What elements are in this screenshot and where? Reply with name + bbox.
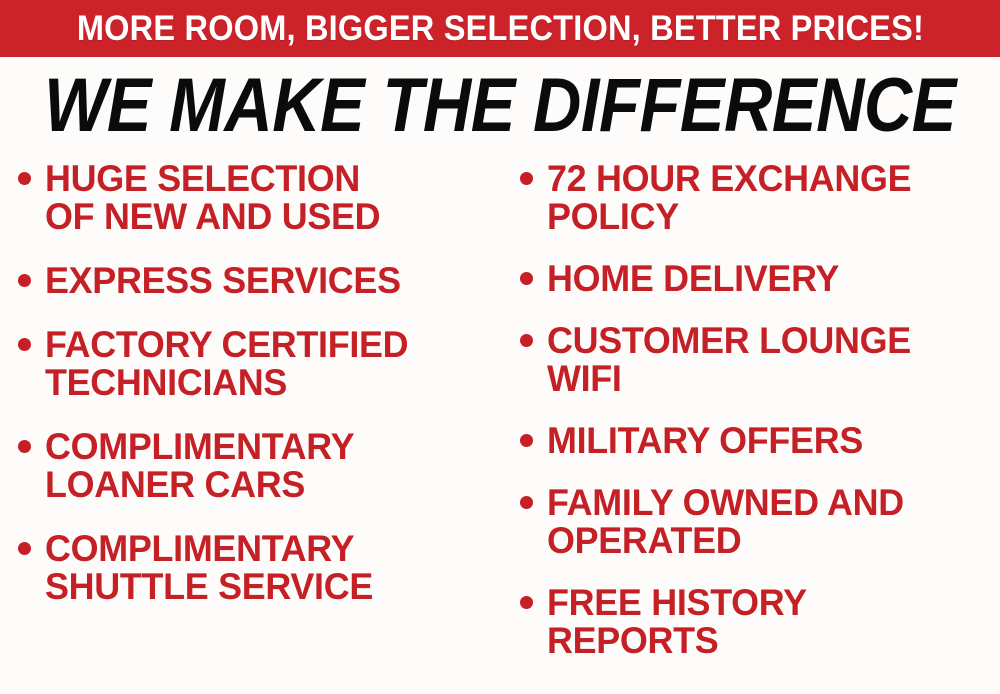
list-item: CUSTOMER LOUNGE WIFI (520, 322, 994, 398)
list-item-text: MILITARY OFFERS (547, 422, 863, 460)
bullet-dot-icon (520, 334, 533, 347)
list-item-text: FACTORY CERTIFIED TECHNICIANS (45, 326, 408, 402)
list-item-line1: HOME DELIVERY (547, 258, 839, 299)
list-item-text: HOME DELIVERY (547, 260, 839, 298)
list-item: COMPLIMENTARY LOANER CARS (18, 428, 494, 504)
headline-container: WE MAKE THE DIFFERENCE (0, 57, 1000, 155)
list-item-line2: OF NEW AND USED (45, 198, 380, 236)
benefits-columns: HUGE SELECTION OF NEW AND USED EXPRESS S… (0, 160, 1000, 694)
list-item-text: FAMILY OWNED AND OPERATED (547, 484, 904, 560)
bullet-dot-icon (520, 172, 533, 185)
list-item-line2: TECHNICIANS (45, 364, 408, 402)
bullet-dot-icon (520, 272, 533, 285)
bullet-dot-icon (18, 172, 31, 185)
list-item-line2: POLICY (547, 198, 911, 236)
bullet-dot-icon (520, 596, 533, 609)
list-item-line1: FREE HISTORY (547, 582, 807, 623)
bullet-dot-icon (18, 274, 31, 287)
list-item-text: CUSTOMER LOUNGE WIFI (547, 322, 911, 398)
list-item: FACTORY CERTIFIED TECHNICIANS (18, 326, 494, 402)
list-item-line1: COMPLIMENTARY (45, 528, 354, 569)
benefits-column-left: HUGE SELECTION OF NEW AND USED EXPRESS S… (0, 160, 500, 632)
list-item-text: FREE HISTORY REPORTS (547, 584, 807, 660)
list-item-text: 72 HOUR EXCHANGE POLICY (547, 160, 911, 236)
list-item: 72 HOUR EXCHANGE POLICY (520, 160, 994, 236)
list-item-line2: LOANER CARS (45, 466, 354, 504)
list-item-line1: FACTORY CERTIFIED (45, 324, 408, 365)
list-item: HOME DELIVERY (520, 260, 994, 298)
list-item-line2: WIFI (547, 360, 911, 398)
list-item-line1: FAMILY OWNED AND (547, 482, 904, 523)
bullet-dot-icon (18, 542, 31, 555)
list-item-line2: SHUTTLE SERVICE (45, 568, 373, 606)
list-item-line2: REPORTS (547, 622, 807, 660)
bullet-dot-icon (520, 496, 533, 509)
list-item-line2: OPERATED (547, 522, 904, 560)
list-item: FAMILY OWNED AND OPERATED (520, 484, 994, 560)
list-item: EXPRESS SERVICES (18, 262, 494, 300)
list-item-text: HUGE SELECTION OF NEW AND USED (45, 160, 380, 236)
page-title: WE MAKE THE DIFFERENCE (44, 68, 956, 144)
list-item-line1: EXPRESS SERVICES (45, 260, 401, 301)
promo-banner-text: MORE ROOM, BIGGER SELECTION, BETTER PRIC… (76, 11, 923, 46)
promo-banner: MORE ROOM, BIGGER SELECTION, BETTER PRIC… (0, 0, 1000, 57)
list-item-line1: COMPLIMENTARY (45, 426, 354, 467)
list-item: HUGE SELECTION OF NEW AND USED (18, 160, 494, 236)
list-item-line1: CUSTOMER LOUNGE (547, 320, 911, 361)
bullet-dot-icon (18, 440, 31, 453)
bullet-dot-icon (18, 338, 31, 351)
list-item-text: EXPRESS SERVICES (45, 262, 401, 300)
list-item: MILITARY OFFERS (520, 422, 994, 460)
list-item-line1: 72 HOUR EXCHANGE (547, 158, 911, 199)
list-item: FREE HISTORY REPORTS (520, 584, 994, 660)
bullet-dot-icon (520, 434, 533, 447)
benefits-column-right: 72 HOUR EXCHANGE POLICY HOME DELIVERY CU… (500, 160, 1000, 684)
list-item-line1: MILITARY OFFERS (547, 420, 863, 461)
list-item-text: COMPLIMENTARY LOANER CARS (45, 428, 354, 504)
list-item: COMPLIMENTARY SHUTTLE SERVICE (18, 530, 494, 606)
list-item-text: COMPLIMENTARY SHUTTLE SERVICE (45, 530, 373, 606)
list-item-line1: HUGE SELECTION (45, 158, 360, 199)
